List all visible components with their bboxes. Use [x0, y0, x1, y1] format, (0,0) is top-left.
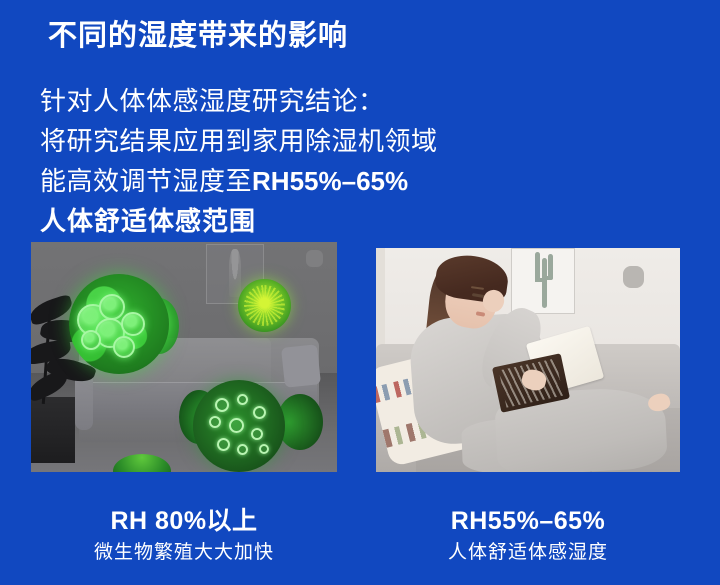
intro-line-3: 能高效调节湿度至RH55%–65% [40, 161, 438, 201]
microbe-cell [81, 330, 101, 350]
microbe-bottom-sphere [193, 380, 285, 472]
microbe-virus-sphere [238, 279, 291, 332]
humidity-range-highlight: RH55%–65% [252, 166, 408, 196]
dark-sofa-cushion [281, 344, 321, 388]
microbe-dot [229, 418, 244, 433]
cactus-icon [534, 252, 554, 308]
caption-title-high-humidity: RH 80%以上 [31, 506, 337, 536]
intro-line-2: 将研究结果应用到家用除湿机领域 [40, 121, 438, 161]
promo-page: 不同的湿度带来的影响 针对人体体感湿度研究结论： 将研究结果应用到家用除湿机领域… [0, 0, 720, 585]
microbe-dot [217, 438, 230, 451]
microbe-dot [237, 444, 248, 455]
microbe-large-cluster [69, 274, 169, 374]
photo-high-humidity [31, 242, 337, 472]
microbe-dot [209, 416, 221, 428]
microbe-dot [259, 444, 269, 454]
intro-line-4: 人体舒适体感范围 [40, 201, 438, 241]
intro-line-3-prefix: 能高效调节湿度至 [40, 166, 252, 196]
microbe-dot [253, 406, 266, 419]
caption-comfort-humidity: RH55%–65% 人体舒适体感湿度 [376, 506, 680, 567]
microbe-cell [121, 312, 145, 336]
wall-sensor-icon [623, 266, 644, 288]
microbe-dot [237, 394, 248, 405]
wall-thermostat-icon [306, 250, 323, 267]
intro-copy-block: 针对人体体感湿度研究结论： 将研究结果应用到家用除湿机领域 能高效调节湿度至RH… [40, 81, 438, 241]
microbe-dot [251, 428, 263, 440]
caption-sub-comfort-humidity: 人体舒适体感湿度 [376, 539, 680, 567]
microbe-cell [99, 294, 125, 320]
cactus-wall-art [511, 248, 575, 314]
intro-line-1: 针对人体体感湿度研究结论： [40, 81, 438, 121]
caption-sub-high-humidity: 微生物繁殖大大加快 [31, 539, 337, 567]
page-title: 不同的湿度带来的影响 [48, 18, 348, 54]
microbe-cell [113, 336, 135, 358]
photo-comfort-humidity [376, 248, 680, 472]
caption-title-comfort-humidity: RH55%–65% [376, 506, 680, 536]
dark-room-scene [31, 242, 337, 472]
plant-pot [31, 397, 75, 463]
caption-high-humidity: RH 80%以上 微生物繁殖大大加快 [31, 506, 337, 567]
microbe-dot [215, 398, 229, 412]
bright-room-scene [376, 248, 680, 472]
